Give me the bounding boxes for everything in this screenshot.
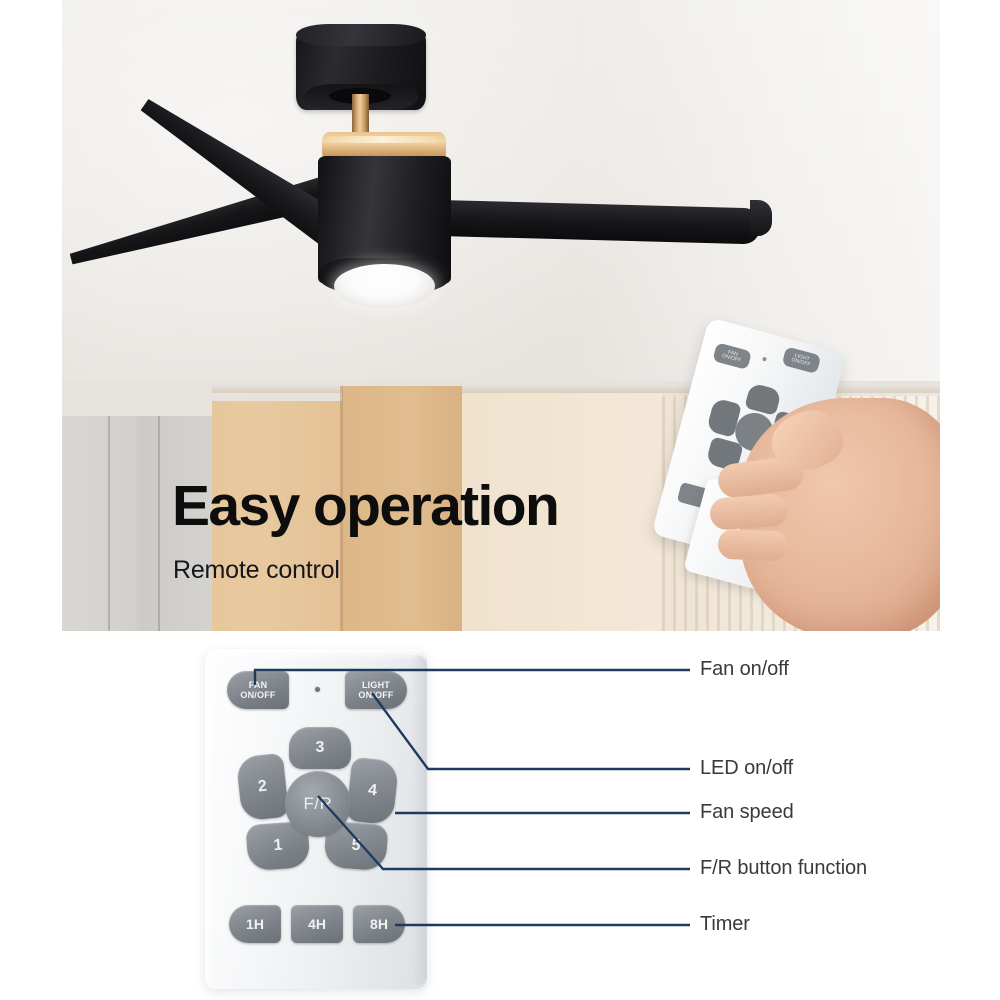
ir-transmitter-dot: [315, 687, 320, 692]
fan-speed-2-label: 2: [257, 778, 268, 797]
hero-subline: Remote control: [173, 556, 340, 585]
light-button-line2: ON/OFF: [358, 690, 393, 700]
hero-photo: FANON/OFF LIGHTON/OFF: [62, 0, 940, 631]
photo-light-button: LIGHTON/OFF: [782, 346, 822, 374]
photo-fan-button-label: FANON/OFF: [713, 346, 750, 365]
remote-top-edge: [205, 649, 427, 661]
fan-speed-4-button[interactable]: 4: [346, 757, 399, 826]
photo-ir-dot: [762, 357, 767, 362]
remote-callout-diagram: FAN ON/OFF LIGHT ON/OFF 3 2 4: [0, 631, 1000, 1000]
fan-speed-rosette: 3 2 4 1 5 F/R: [233, 727, 401, 881]
timer-8h-label: 8H: [370, 916, 388, 932]
photo-light-button-label: LIGHTON/OFF: [783, 350, 820, 369]
fan-blade-right-tip: [750, 200, 772, 236]
fr-direction-label: F/R: [304, 794, 333, 814]
photo-fan-button: FANON/OFF: [712, 342, 752, 370]
fan-speed-5-label: 5: [351, 837, 361, 856]
product-feature-page: FANON/OFF LIGHTON/OFF: [0, 0, 1000, 1000]
remote-left-edge: [205, 655, 215, 985]
annotation-fan-on-off: Fan on/off: [700, 658, 789, 681]
fan-canopy-top: [296, 24, 426, 46]
light-button-line1: LIGHT: [362, 680, 390, 690]
annotation-timer: Timer: [700, 913, 750, 936]
timer-1h-label: 1H: [246, 916, 264, 932]
photo-speed-3: [744, 382, 782, 415]
fan-on-off-button-label: FAN ON/OFF: [240, 680, 275, 700]
light-on-off-button-label: LIGHT ON/OFF: [358, 680, 393, 700]
fan-speed-3-label: 3: [316, 739, 325, 757]
fan-speed-1-label: 1: [273, 837, 283, 856]
annotation-fr-function: F/R button function: [700, 857, 867, 880]
remote-right-edge: [411, 655, 427, 985]
leader-lines: [0, 631, 1000, 1000]
finger-ring: [717, 529, 788, 561]
fan-button-line1: FAN: [249, 680, 268, 690]
fan-speed-3-button[interactable]: 3: [289, 727, 351, 769]
timer-4h-label: 4H: [308, 916, 326, 932]
fan-button-line2: ON/OFF: [240, 690, 275, 700]
timer-4h-button[interactable]: 4H: [291, 905, 343, 943]
fan-led-light: [334, 264, 435, 308]
fan-gold-ring-highlight: [326, 136, 438, 143]
hero-headline: Easy operation: [172, 478, 558, 535]
fan-speed-4-label: 4: [367, 782, 378, 801]
annotation-led-on-off: LED on/off: [700, 757, 793, 780]
hand-with-remote: FANON/OFF LIGHTON/OFF: [622, 320, 940, 631]
light-on-off-button[interactable]: LIGHT ON/OFF: [345, 671, 407, 709]
timer-8h-button[interactable]: 8H: [353, 905, 405, 943]
fr-direction-button[interactable]: F/R: [285, 771, 351, 837]
ceiling-fan: [234, 22, 794, 352]
timer-1h-button[interactable]: 1H: [229, 905, 281, 943]
fan-blade-right: [440, 200, 761, 244]
fan-on-off-button[interactable]: FAN ON/OFF: [227, 671, 289, 709]
fan-speed-2-button[interactable]: 2: [236, 753, 289, 822]
timer-button-row: 1H 4H 8H: [229, 905, 405, 943]
finger-middle: [709, 493, 789, 530]
annotation-fan-speed: Fan speed: [700, 801, 794, 824]
remote-control-illustration: FAN ON/OFF LIGHT ON/OFF 3 2 4: [205, 649, 427, 989]
